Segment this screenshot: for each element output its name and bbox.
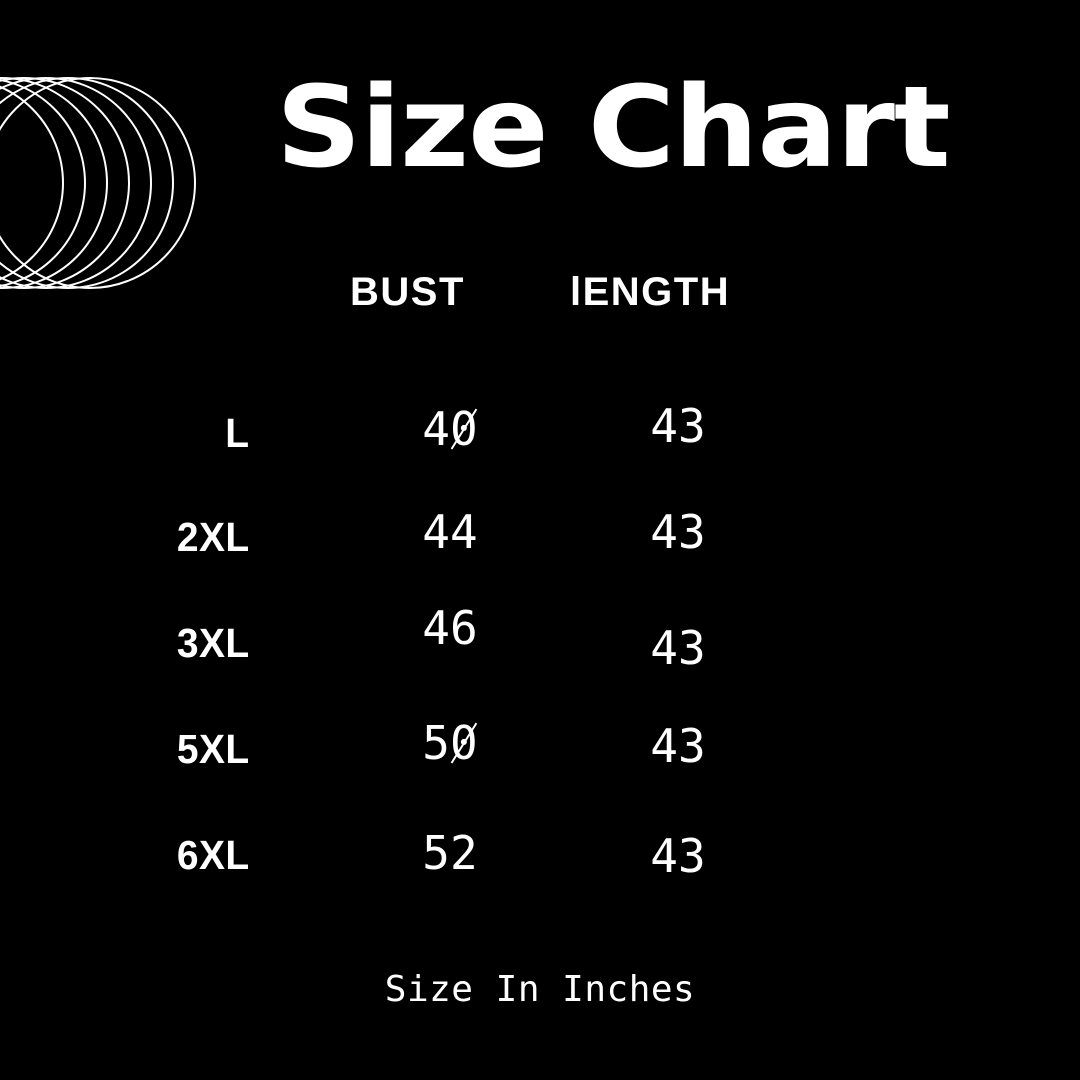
cell-length: 43 — [618, 723, 738, 769]
row-label-size: 6XL — [177, 835, 250, 876]
column-header-length: lENGTH — [570, 272, 730, 312]
row-label-size: 2XL — [177, 517, 250, 558]
row-label-size: 3XL — [177, 623, 250, 664]
column-header-bust: BUST — [350, 272, 465, 312]
row-label-size: 5XL — [177, 729, 250, 770]
cell-length: 43 — [618, 509, 738, 555]
cell-bust: 46 — [390, 605, 510, 651]
cell-bust: 44 — [390, 509, 510, 555]
cell-length: 43 — [618, 833, 738, 879]
units-note: Size In Inches — [0, 972, 1080, 1008]
cell-bust: 50 — [390, 720, 510, 766]
cell-length: 43 — [618, 625, 738, 671]
size-chart-table: BUST lENGTH L40432XL44433XL46435XL50436X… — [0, 0, 1080, 1080]
cell-length: 43 — [618, 403, 738, 449]
cell-bust: 40 — [390, 406, 510, 452]
row-label-size: L — [226, 413, 250, 454]
size-chart-canvas: Size Chart BUST lENGTH L40432XL44433XL46… — [0, 0, 1080, 1080]
cell-bust: 52 — [390, 830, 510, 876]
